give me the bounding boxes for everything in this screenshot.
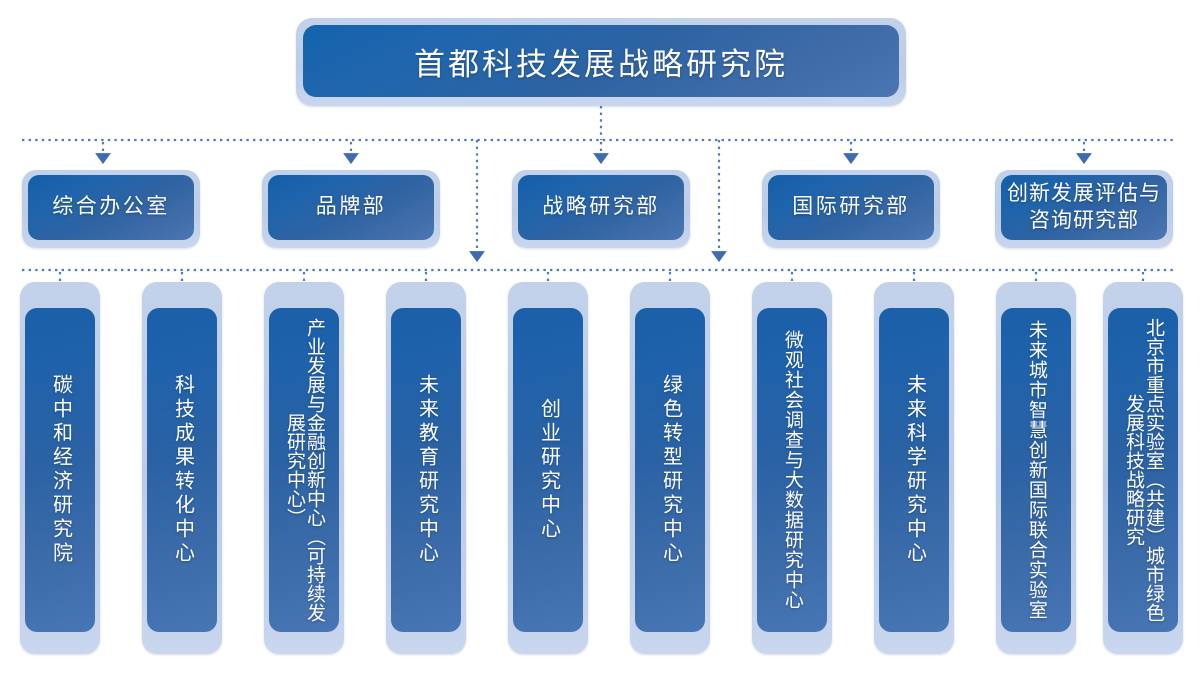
node-department-3[interactable]: 战略研究部 — [512, 170, 690, 248]
node-center-5-label: 创业研究中心 — [513, 308, 583, 632]
node-center-8[interactable]: 未来科学研究中心 — [874, 282, 954, 654]
node-center-7-label: 微观社会调查与大数据研究中心 — [757, 308, 827, 632]
node-center-4-label: 未来教育研究中心 — [391, 308, 461, 632]
node-department-1[interactable]: 综合办公室 — [22, 170, 200, 248]
node-department-5-label: 创新发展评估与咨询研究部 — [1001, 175, 1167, 240]
node-center-6-label: 绿色转型研究中心 — [635, 308, 705, 632]
node-center-9[interactable]: 未来城市智慧创新国际联合实验室 — [996, 282, 1076, 654]
node-center-7[interactable]: 微观社会调查与大数据研究中心 — [752, 282, 832, 654]
node-center-2-label: 科技成果转化中心 — [147, 308, 217, 632]
node-center-4[interactable]: 未来教育研究中心 — [386, 282, 466, 654]
node-center-8-label: 未来科学研究中心 — [879, 308, 949, 632]
node-root-label: 首都科技发展战略研究院 — [303, 25, 899, 97]
node-center-6[interactable]: 绿色转型研究中心 — [630, 282, 710, 654]
node-department-1-label: 综合办公室 — [28, 175, 194, 240]
node-center-5[interactable]: 创业研究中心 — [508, 282, 588, 654]
node-center-3[interactable]: 产业发展与金融创新中心（可持续发展研究中心） — [264, 282, 344, 654]
node-root[interactable]: 首都科技发展战略研究院 — [296, 18, 906, 106]
node-department-2-label: 品牌部 — [268, 175, 434, 240]
node-center-1-label: 碳中和经济研究院 — [25, 308, 95, 632]
node-center-2[interactable]: 科技成果转化中心 — [142, 282, 222, 654]
node-department-3-label: 战略研究部 — [518, 175, 684, 240]
node-center-10-label: 北京市重点实验室（共建）城市绿色发展科技战略研究 — [1108, 308, 1178, 632]
node-center-10[interactable]: 北京市重点实验室（共建）城市绿色发展科技战略研究 — [1103, 282, 1183, 654]
node-center-3-label: 产业发展与金融创新中心（可持续发展研究中心） — [269, 308, 339, 632]
node-center-1[interactable]: 碳中和经济研究院 — [20, 282, 100, 654]
node-department-5[interactable]: 创新发展评估与咨询研究部 — [995, 170, 1173, 248]
node-department-4-label: 国际研究部 — [768, 175, 934, 240]
org-chart-canvas: 首都科技发展战略研究院 综合办公室 品牌部 战略研究部 国际研究部 创新发展评估… — [0, 0, 1200, 675]
node-department-2[interactable]: 品牌部 — [262, 170, 440, 248]
node-center-9-label: 未来城市智慧创新国际联合实验室 — [1001, 308, 1071, 632]
node-department-4[interactable]: 国际研究部 — [762, 170, 940, 248]
